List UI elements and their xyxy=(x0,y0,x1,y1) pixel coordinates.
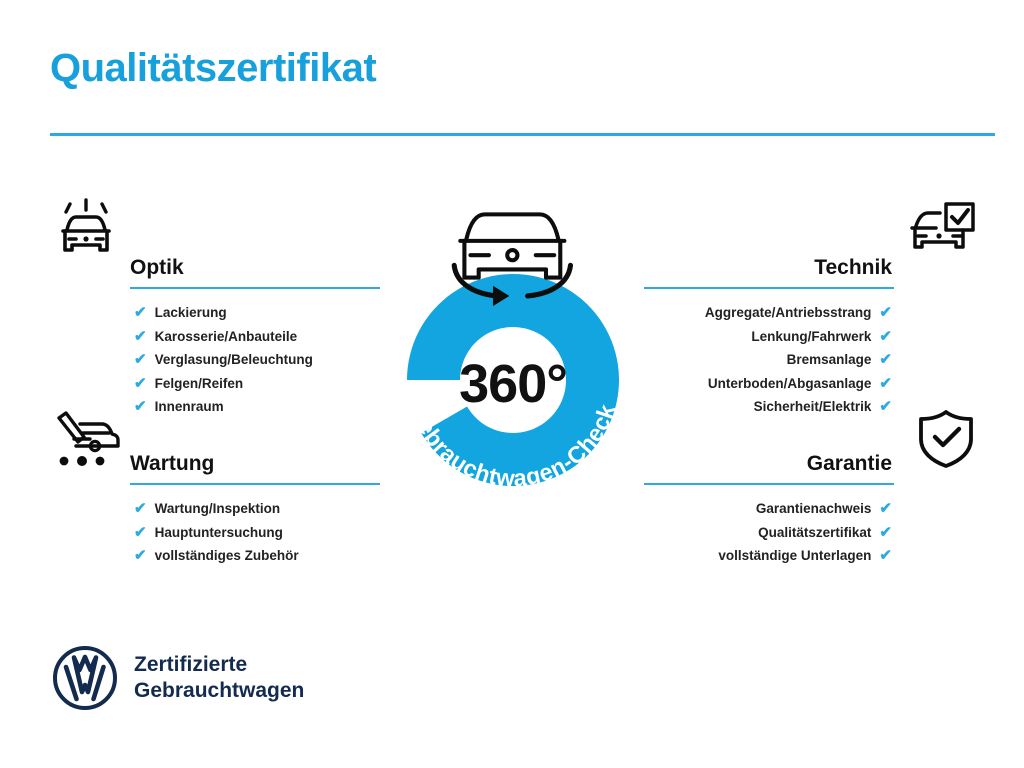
check-icon: ✔ xyxy=(134,376,147,391)
check-icon: ✔ xyxy=(879,305,892,320)
list-item: ✔Felgen/Reifen xyxy=(134,372,380,396)
list-item: Unterboden/Abgasanlage✔ xyxy=(644,372,892,396)
check-icon: ✔ xyxy=(134,305,147,320)
section-optik: Optik ✔Lackierung ✔Karosserie/Anbauteile… xyxy=(50,234,380,435)
check-icon: ✔ xyxy=(879,548,892,563)
page-title: Qualitätszertifikat xyxy=(50,46,376,90)
list-item-label: vollständiges Zubehör xyxy=(155,548,299,563)
list-item-label: vollständige Unterlagen xyxy=(718,548,871,563)
header-divider xyxy=(50,133,995,136)
list-item: Qualitätszertifikat✔ xyxy=(644,521,892,545)
check-icon: ✔ xyxy=(134,329,147,344)
list-item: ✔Innenraum xyxy=(134,395,380,419)
list-item-label: Garantienachweis xyxy=(756,501,872,516)
checklist-wartung: ✔Wartung/Inspektion ✔Hauptuntersuchung ✔… xyxy=(134,497,380,568)
check-icon: ✔ xyxy=(134,399,147,414)
list-item-label: Bremsanlage xyxy=(787,352,872,367)
list-item-label: Verglasung/Beleuchtung xyxy=(155,352,313,367)
section-divider xyxy=(130,483,380,485)
section-title: Technik xyxy=(814,257,892,280)
section-garantie: Garantie Garantienachweis✔ Qualitätszert… xyxy=(644,430,974,584)
checklist-optik: ✔Lackierung ✔Karosserie/Anbauteile ✔Verg… xyxy=(134,301,380,419)
section-title: Garantie xyxy=(807,453,892,476)
list-item: ✔Wartung/Inspektion xyxy=(134,497,380,521)
section-title: Optik xyxy=(130,257,184,280)
check-icon: ✔ xyxy=(879,376,892,391)
checklist-technik: Aggregate/Antriebsstrang✔ Lenkung/Fahrwe… xyxy=(644,301,892,419)
list-item: Bremsanlage✔ xyxy=(644,348,892,372)
footer-line-1: Zertifizierte xyxy=(134,652,304,678)
list-item: Garantienachweis✔ xyxy=(644,497,892,521)
check-icon: ✔ xyxy=(879,352,892,367)
list-item-label: Unterboden/Abgasanlage xyxy=(708,376,872,391)
list-item-label: Qualitätszertifikat xyxy=(758,525,871,540)
list-item-label: Felgen/Reifen xyxy=(155,376,244,391)
check-icon: ✔ xyxy=(134,501,147,516)
badge-360-gebrauchtwagen-check: Gebrauchtwagen-Check 360° xyxy=(378,190,648,490)
checklist-garantie: Garantienachweis✔ Qualitätszertifikat✔ v… xyxy=(644,497,892,568)
section-wartung: Wartung ✔Wartung/Inspektion ✔Hauptunters… xyxy=(50,430,380,584)
section-divider xyxy=(130,287,380,289)
list-item-label: Lenkung/Fahrwerk xyxy=(751,329,871,344)
section-header-technik: Technik xyxy=(644,234,974,280)
section-technik: Technik Aggregate/Antriebsstrang✔ Lenkun… xyxy=(644,234,974,435)
list-item-label: Hauptuntersuchung xyxy=(155,525,283,540)
section-divider xyxy=(644,287,894,289)
list-item: ✔vollständiges Zubehör xyxy=(134,544,380,568)
check-icon: ✔ xyxy=(879,525,892,540)
list-item-label: Karosserie/Anbauteile xyxy=(155,329,298,344)
list-item: ✔Verglasung/Beleuchtung xyxy=(134,348,380,372)
list-item-label: Lackierung xyxy=(155,305,227,320)
list-item: ✔Karosserie/Anbauteile xyxy=(134,325,380,349)
check-icon: ✔ xyxy=(134,352,147,367)
footer-brand-text: Zertifizierte Gebrauchtwagen xyxy=(134,652,304,703)
list-item: vollständige Unterlagen✔ xyxy=(644,544,892,568)
check-icon: ✔ xyxy=(134,525,147,540)
list-item: Sicherheit/Elektrik✔ xyxy=(644,395,892,419)
list-item-label: Sicherheit/Elektrik xyxy=(754,399,872,414)
footer-line-2: Gebrauchtwagen xyxy=(134,678,304,704)
list-item-label: Wartung/Inspektion xyxy=(155,501,281,516)
list-item: ✔Hauptuntersuchung xyxy=(134,521,380,545)
footer-brand: Zertifizierte Gebrauchtwagen xyxy=(52,645,304,711)
vw-logo-icon xyxy=(52,645,118,711)
list-item-label: Innenraum xyxy=(155,399,224,414)
check-icon: ✔ xyxy=(879,329,892,344)
check-icon: ✔ xyxy=(134,548,147,563)
check-icon: ✔ xyxy=(879,501,892,516)
section-header-optik: Optik xyxy=(50,234,380,280)
check-icon: ✔ xyxy=(879,399,892,414)
section-header-garantie: Garantie xyxy=(644,430,974,476)
list-item-label: Aggregate/Antriebsstrang xyxy=(705,305,872,320)
section-header-wartung: Wartung xyxy=(50,430,380,476)
section-divider xyxy=(644,483,894,485)
section-title: Wartung xyxy=(130,453,214,476)
list-item: Lenkung/Fahrwerk✔ xyxy=(644,325,892,349)
list-item: Aggregate/Antriebsstrang✔ xyxy=(644,301,892,325)
list-item: ✔Lackierung xyxy=(134,301,380,325)
